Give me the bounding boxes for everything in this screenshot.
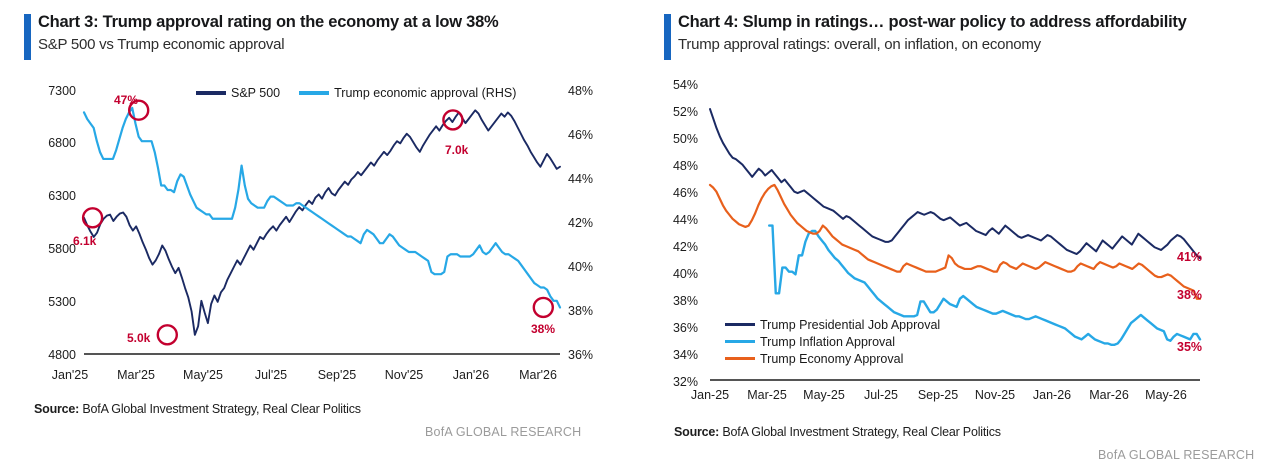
chart4-endlabel-41: 41% <box>1177 250 1202 264</box>
chart4-ytick-50: 50% <box>640 132 698 146</box>
chart3-ytick-7300: 7300 <box>30 84 76 98</box>
chart4-source-text: BofA Global Investment Strategy, Real Cl… <box>719 425 1001 439</box>
chart4-subtitle: Trump approval ratings: overall, on infl… <box>678 35 1280 55</box>
chart4-ytick-40: 40% <box>640 267 698 281</box>
legend-item-inflation-approval[interactable]: Trump Inflation Approval <box>725 333 940 350</box>
chart3-ytick-rhs-44: 44% <box>568 172 593 186</box>
chart3-panel: Chart 3: Trump approval rating on the ec… <box>0 0 640 472</box>
chart3-annot-70k: 7.0k <box>445 143 468 157</box>
chart4-ytick-38: 38% <box>640 294 698 308</box>
chart4-endlabel-35: 35% <box>1177 340 1202 354</box>
chart3-annot-47pct: 47% <box>114 93 138 107</box>
legend-swatch-inflation-approval <box>725 340 755 344</box>
chart3-series-sp500 <box>84 110 560 335</box>
chart4-title: Chart 4: Slump in ratings… post-war poli… <box>678 12 1280 33</box>
chart3-ytick-6300: 6300 <box>30 189 76 203</box>
chart4-source-prefix: Source: <box>674 425 719 439</box>
chart4-research-watermark: BofA GLOBAL RESEARCH <box>1098 448 1254 462</box>
chart3-subtitle: S&P 500 vs Trump economic approval <box>38 35 640 55</box>
chart3-ytick-rhs-46: 46% <box>568 128 593 142</box>
chart4-source: Source: BofA Global Investment Strategy,… <box>674 425 1001 439</box>
chart4-ytick-34: 34% <box>640 348 698 362</box>
chart3-annot-61k: 6.1k <box>73 234 96 248</box>
chart4-ytick-46: 46% <box>640 186 698 200</box>
legend-item-economy-approval[interactable]: Trump Economy Approval <box>725 350 940 367</box>
chart3-annotation-circles <box>83 101 553 345</box>
chart3-title: Chart 3: Trump approval rating on the ec… <box>38 12 640 33</box>
chart4-legend: Trump Presidential Job Approval Trump In… <box>725 316 940 367</box>
chart3-annot-50k: 5.0k <box>127 331 150 345</box>
charts-page: Chart 3: Trump approval rating on the ec… <box>0 0 1280 472</box>
chart4-series-economy-approval <box>710 185 1200 299</box>
chart3-xtick-mar26: Mar'26 <box>498 368 578 382</box>
chart3-source: Source: BofA Global Investment Strategy,… <box>34 402 361 416</box>
chart4-xtick-may26: May-26 <box>1124 388 1208 402</box>
chart3-ytick-rhs-42: 42% <box>568 216 593 230</box>
chart3-annotation-circle <box>158 325 177 344</box>
chart4-ytick-32: 32% <box>640 375 698 389</box>
chart3-ytick-rhs-40: 40% <box>568 260 593 274</box>
legend-swatch-job-approval <box>725 323 755 327</box>
chart3-ytick-5800: 5800 <box>30 242 76 256</box>
chart4-title-block: Chart 4: Slump in ratings… post-war poli… <box>664 12 1280 55</box>
legend-label-economy-approval: Trump Economy Approval <box>760 352 903 366</box>
chart4-ytick-54: 54% <box>640 78 698 92</box>
chart3-source-prefix: Source: <box>34 402 79 416</box>
legend-label-job-approval: Trump Presidential Job Approval <box>760 318 940 332</box>
chart3-title-block: Chart 3: Trump approval rating on the ec… <box>24 12 640 55</box>
chart3-ytick-rhs-48: 48% <box>568 84 593 98</box>
chart3-accent-bar <box>24 14 31 60</box>
legend-item-job-approval[interactable]: Trump Presidential Job Approval <box>725 316 940 333</box>
chart4-ytick-48: 48% <box>640 159 698 173</box>
chart3-source-text: BofA Global Investment Strategy, Real Cl… <box>79 402 361 416</box>
chart3-annotation-circle <box>534 298 553 317</box>
legend-swatch-economy-approval <box>725 357 755 361</box>
chart3-annot-38pct: 38% <box>531 322 555 336</box>
chart3-ytick-4800: 4800 <box>30 348 76 362</box>
chart4-ytick-44: 44% <box>640 213 698 227</box>
chart4-endlabel-38: 38% <box>1177 288 1202 302</box>
chart4-accent-bar <box>664 14 671 60</box>
chart4-panel: Chart 4: Slump in ratings… post-war poli… <box>640 0 1280 472</box>
chart4-ytick-52: 52% <box>640 105 698 119</box>
chart4-ytick-36: 36% <box>640 321 698 335</box>
chart3-ytick-rhs-36: 36% <box>568 348 593 362</box>
chart3-ytick-5300: 5300 <box>30 295 76 309</box>
chart3-ytick-6800: 6800 <box>30 136 76 150</box>
legend-label-inflation-approval: Trump Inflation Approval <box>760 335 895 349</box>
chart4-ytick-42: 42% <box>640 240 698 254</box>
chart3-annotation-circle <box>83 208 102 227</box>
chart3-plot <box>84 88 560 356</box>
chart4-series-job-approval <box>710 109 1200 258</box>
chart3-series-economic-approval <box>84 108 560 308</box>
chart3-research-watermark: BofA GLOBAL RESEARCH <box>425 425 581 439</box>
chart3-ytick-rhs-38: 38% <box>568 304 593 318</box>
